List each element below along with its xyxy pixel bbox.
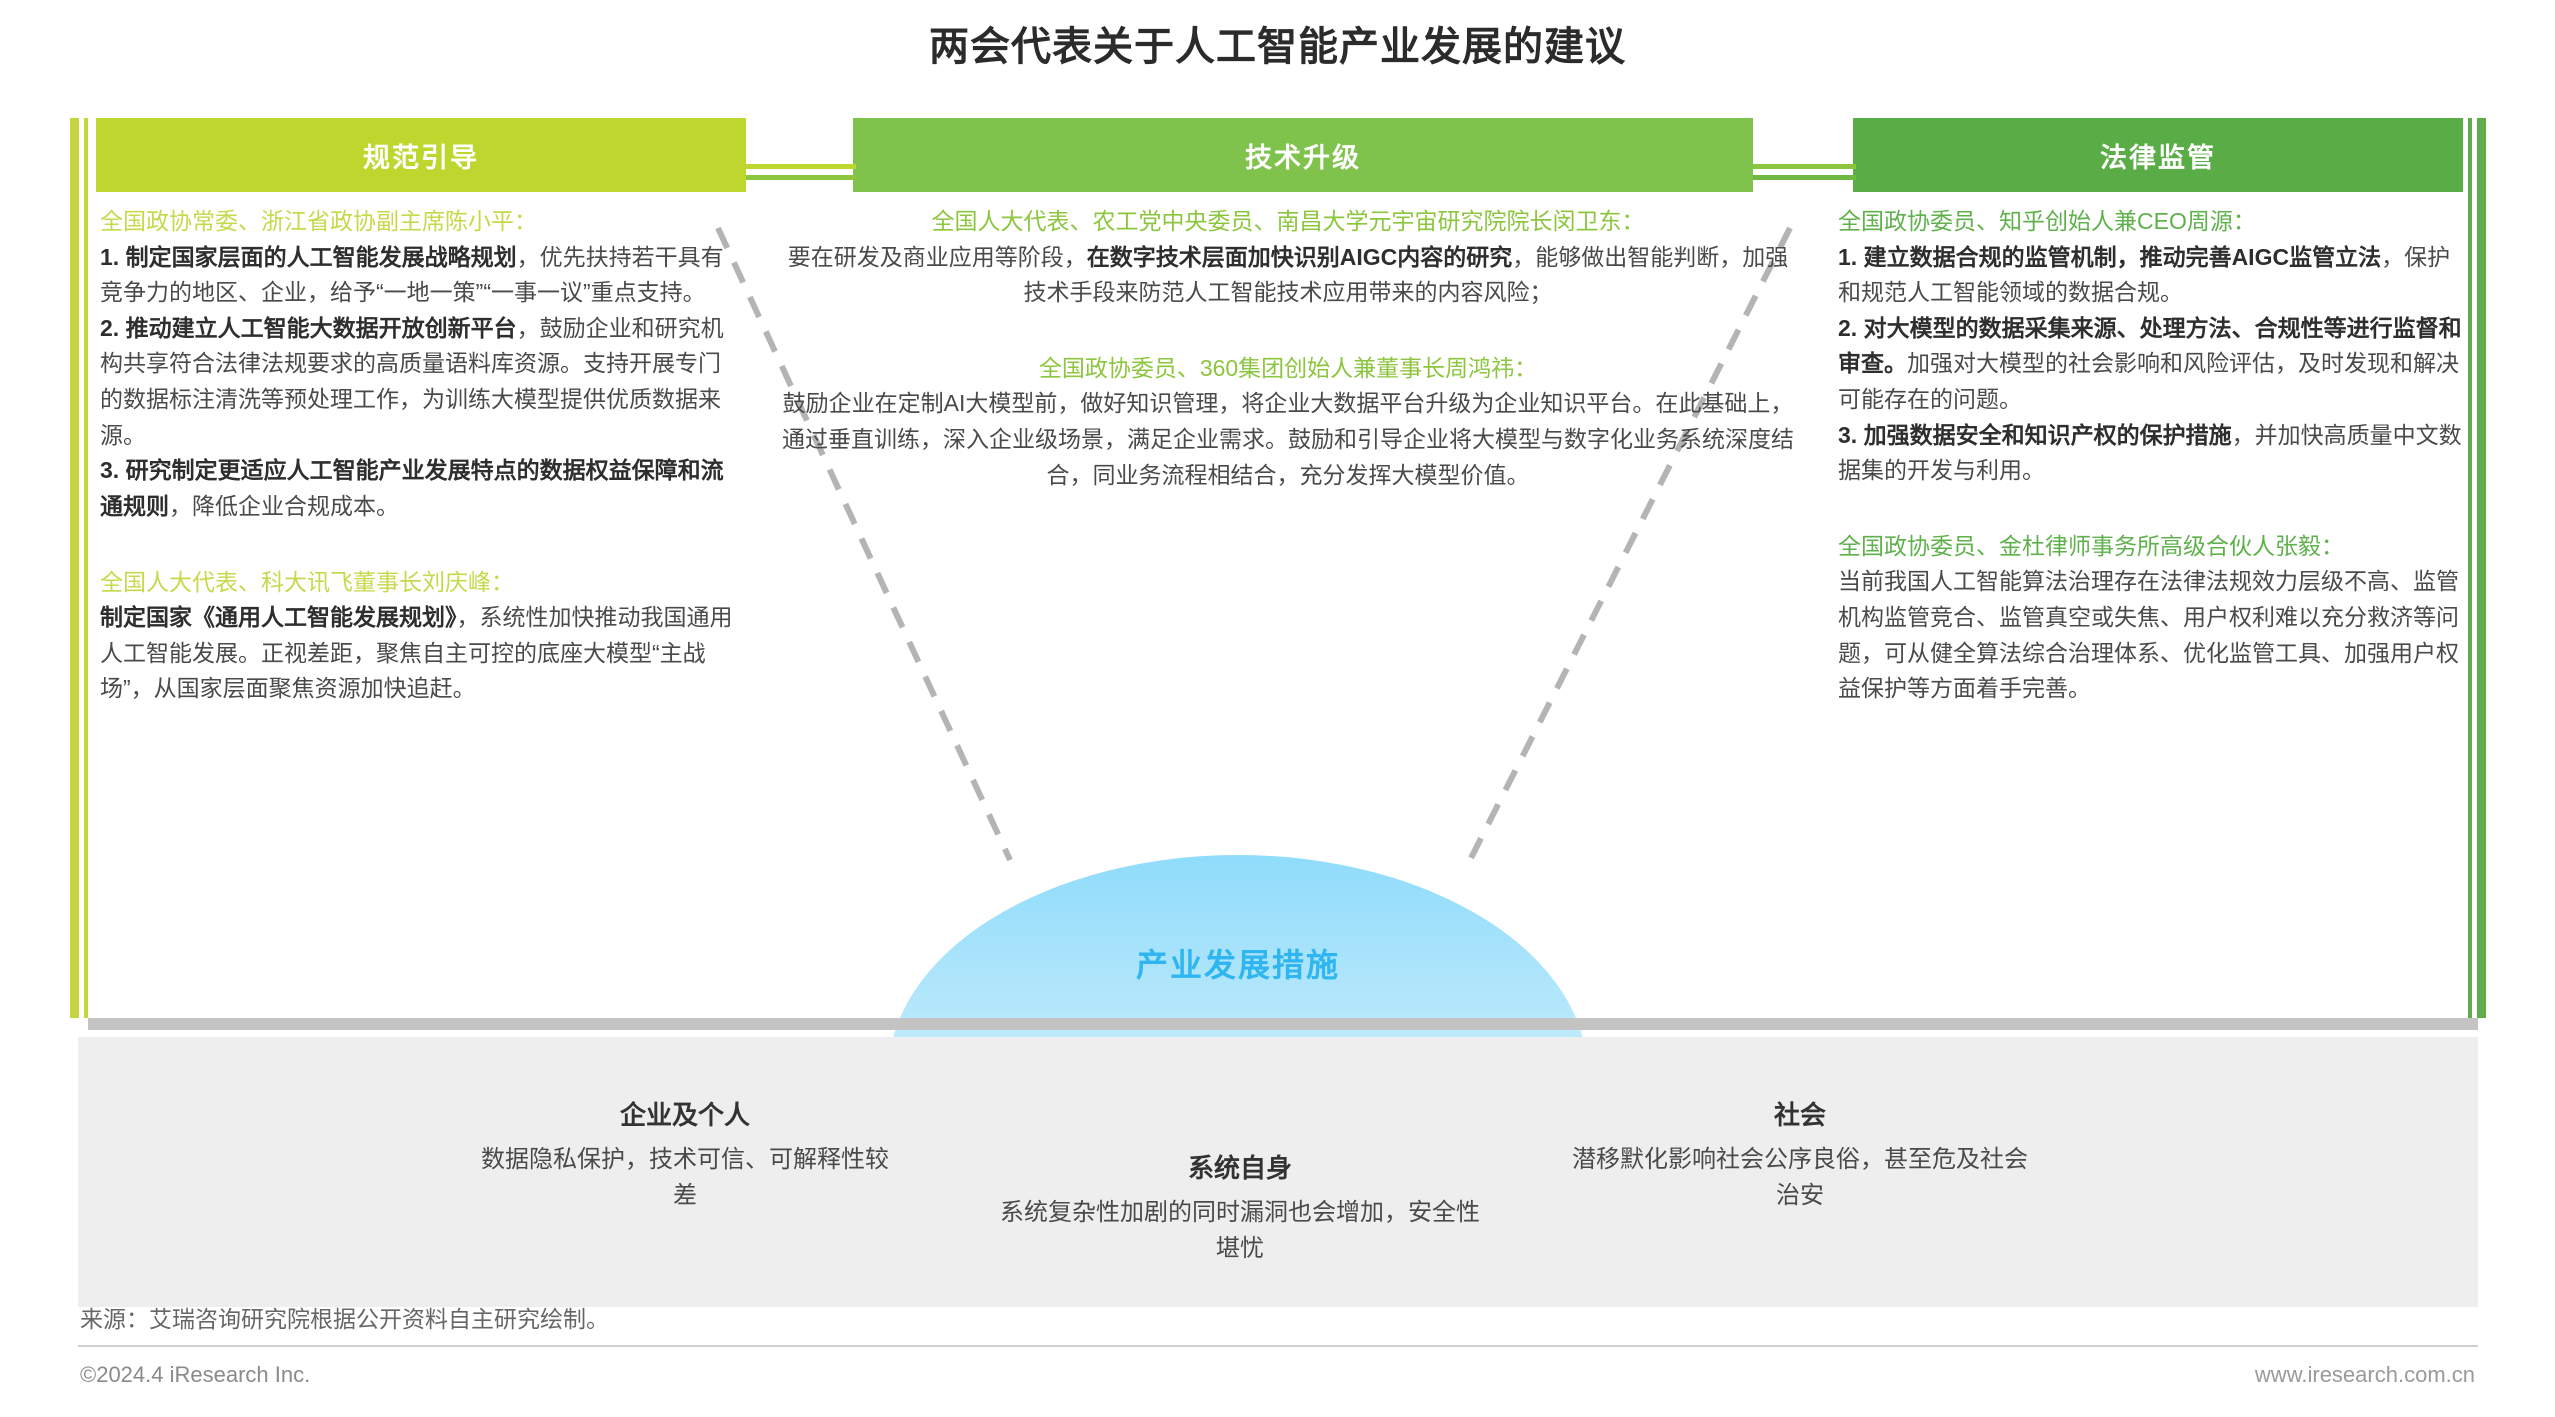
- risk-system-itself: 系统自身 系统复杂性加剧的同时漏洞也会增加，安全性堪忧: [1000, 1148, 1480, 1267]
- column-legal-supervision: 全国政协委员、知乎创始人兼CEO周源： 1. 建立数据合规的监管机制，推动完善A…: [1838, 204, 2463, 713]
- header-technology-upgrade-label: 技术升级: [1245, 136, 1361, 175]
- speaker-name: 全国人大代表、农工党中央委员、南昌大学元宇宙研究院院长闵卫东：: [778, 204, 1798, 239]
- risk-title: 系统自身: [1000, 1148, 1480, 1185]
- risk-body: 数据隐私保护，技术可信、可解释性较差: [470, 1142, 900, 1214]
- risk-enterprise-and-individual: 企业及个人 数据隐私保护，技术可信、可解释性较差: [470, 1095, 900, 1214]
- entry-chen-xiaoping: 全国政协常委、浙江省政协副主席陈小平： 1. 制定国家层面的人工智能发展战略规划…: [100, 204, 740, 525]
- entry-paragraph: 3. 加强数据安全和知识产权的保护措施，并加快高质量中文数据集的开发与利用。: [1838, 418, 2463, 489]
- connector-line-upper: [746, 164, 856, 169]
- left-rail-thick-line: [70, 118, 79, 1018]
- speaker-name: 全国政协常委、浙江省政协副主席陈小平：: [100, 204, 740, 239]
- footer-website: www.iresearch.com.cn: [2255, 1362, 2475, 1388]
- entry-paragraph: 2. 推动建立人工智能大数据开放创新平台，鼓励企业和研究机构共享符合法律法规要求…: [100, 311, 740, 454]
- column-spacer: [778, 317, 1798, 351]
- paragraph-rest: 加强对大模型的社会影响和风险评估，及时发现和解决可能存在的问题。: [1838, 350, 2459, 412]
- header-connector-right: [1753, 164, 1856, 180]
- paragraph-rest: ，降低企业合规成本。: [169, 493, 399, 519]
- risk-body: 潜移默化影响社会公序良俗，甚至危及社会治安: [1565, 1142, 2035, 1214]
- footer-divider: [78, 1345, 2478, 1347]
- header-technology-upgrade[interactable]: 技术升级: [853, 118, 1753, 192]
- entry-paragraph: 当前我国人工智能算法治理存在法律法规效力层级不高、监管机构监管竞合、监管真空或失…: [1838, 564, 2463, 707]
- entry-liu-qingfeng: 全国人大代表、科大讯飞董事长刘庆峰： 制定国家《通用人工智能发展规划》，系统性加…: [100, 565, 740, 707]
- paragraph-bold-lead: 1. 制定国家层面的人工智能发展战略规划: [100, 244, 517, 270]
- header-normative-guidance[interactable]: 规范引导: [96, 118, 746, 192]
- header-normative-guidance-label: 规范引导: [363, 136, 479, 175]
- risk-society: 社会 潜移默化影响社会公序良俗，甚至危及社会治安: [1565, 1095, 2035, 1214]
- entry-paragraph: 制定国家《通用人工智能发展规划》，系统性加快推动我国通用人工智能发展。正视差距，…: [100, 600, 740, 707]
- right-rail-thick-line: [2477, 118, 2486, 1018]
- paragraph-rest: 要在研发及商业应用等阶段，: [788, 244, 1087, 270]
- entry-paragraph: 1. 制定国家层面的人工智能发展战略规划，优先扶持若干具有竞争力的地区、企业，给…: [100, 240, 740, 311]
- column-technology-upgrade: 全国人大代表、农工党中央委员、南昌大学元宇宙研究院院长闵卫东： 要在研发及商业应…: [778, 204, 1798, 499]
- paragraph-bold-lead: 2. 推动建立人工智能大数据开放创新平台: [100, 315, 517, 341]
- risk-title: 企业及个人: [470, 1095, 900, 1132]
- column-normative-guidance: 全国政协常委、浙江省政协副主席陈小平： 1. 制定国家层面的人工智能发展战略规划…: [100, 204, 740, 713]
- paragraph-bold-lead: 制定国家《通用人工智能发展规划》: [100, 604, 457, 630]
- entry-paragraph: 3. 研究制定更适应人工智能产业发展特点的数据权益保障和流通规则，降低企业合规成…: [100, 453, 740, 524]
- column-spacer: [100, 531, 740, 565]
- entry-zhang-yi: 全国政协委员、金杜律师事务所高级合伙人张毅： 当前我国人工智能算法治理存在法律法…: [1838, 529, 2463, 707]
- column-spacer: [1838, 495, 2463, 529]
- entry-paragraph: 要在研发及商业应用等阶段，在数字技术层面加快识别AIGC内容的研究，能够做出智能…: [778, 240, 1798, 311]
- risk-body: 系统复杂性加剧的同时漏洞也会增加，安全性堪忧: [1000, 1195, 1480, 1267]
- entry-paragraph: 2. 对大模型的数据采集来源、处理方法、合规性等进行监督和审查。加强对大模型的社…: [1838, 311, 2463, 418]
- paragraph-bold-lead: 1. 建立数据合规的监管机制，推动完善AIGC监管立法: [1838, 244, 2381, 270]
- page-title: 两会代表关于人工智能产业发展的建议: [0, 14, 2555, 72]
- connector-line-upper: [1753, 164, 1856, 169]
- entry-paragraph: 1. 建立数据合规的监管机制，推动完善AIGC监管立法，保护和规范人工智能领域的…: [1838, 240, 2463, 311]
- connector-line-lower: [1753, 175, 1856, 180]
- speaker-name: 全国政协委员、金杜律师事务所高级合伙人张毅：: [1838, 529, 2463, 564]
- header-legal-supervision-label: 法律监管: [2100, 136, 2216, 175]
- entry-paragraph: 鼓励企业在定制AI大模型前，做好知识管理，将企业大数据平台升级为企业知识平台。在…: [778, 386, 1798, 493]
- speaker-name: 全国政协委员、知乎创始人兼CEO周源：: [1838, 204, 2463, 239]
- entry-zhou-yuan: 全国政协委员、知乎创始人兼CEO周源： 1. 建立数据合规的监管机制，推动完善A…: [1838, 204, 2463, 489]
- paragraph-rest: 鼓励企业在定制AI大模型前，做好知识管理，将企业大数据平台升级为企业知识平台。在…: [782, 390, 1794, 487]
- left-rail-thin-line: [84, 118, 88, 1018]
- speaker-name: 全国政协委员、360集团创始人兼董事长周鸿祎：: [778, 351, 1798, 386]
- speaker-name: 全国人大代表、科大讯飞董事长刘庆峰：: [100, 565, 740, 600]
- header-connector-left: [746, 164, 856, 180]
- entry-min-weidong: 全国人大代表、农工党中央委员、南昌大学元宇宙研究院院长闵卫东： 要在研发及商业应…: [778, 204, 1798, 311]
- header-legal-supervision[interactable]: 法律监管: [1853, 118, 2463, 192]
- entry-zhou-hongyi: 全国政协委员、360集团创始人兼董事长周鸿祎： 鼓励企业在定制AI大模型前，做好…: [778, 351, 1798, 493]
- risk-title: 社会: [1565, 1095, 2035, 1132]
- label-industry-development-measures: 产业发展措施: [888, 940, 1588, 986]
- right-rail-thin-line: [2468, 118, 2472, 1018]
- footer-copyright: ©2024.4 iResearch Inc.: [80, 1362, 310, 1388]
- paragraph-mid-bold: 在数字技术层面加快识别AIGC内容的研究: [1087, 244, 1513, 270]
- connector-line-lower: [746, 175, 856, 180]
- source-note: 来源：艾瑞咨询研究院根据公开资料自主研究绘制。: [80, 1300, 609, 1334]
- section-divider: [88, 1018, 2478, 1030]
- paragraph-rest: 当前我国人工智能算法治理存在法律法规效力层级不高、监管机构监管竞合、监管真空或失…: [1838, 568, 2459, 701]
- paragraph-bold-lead: 3. 加强数据安全和知识产权的保护措施: [1838, 422, 2232, 448]
